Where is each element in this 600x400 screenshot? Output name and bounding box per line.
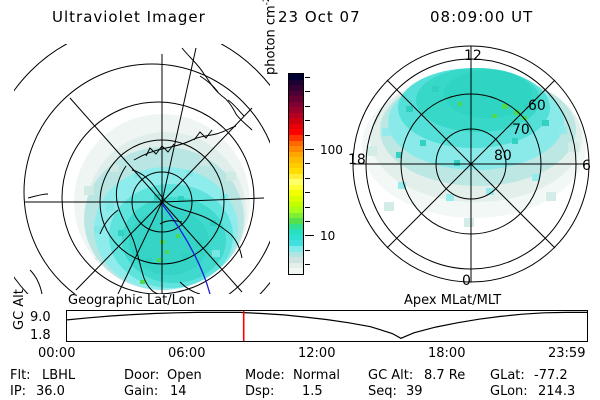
footer-door-value: Open: [167, 368, 202, 383]
observation-date: 23 Oct 07: [278, 8, 361, 26]
footer-gain-value: 14: [170, 384, 187, 399]
time-tick-0600: 06:00: [168, 346, 205, 361]
time-tick-0000: 00:00: [38, 346, 75, 361]
colorbar-label-text: photon cm: [263, 5, 278, 75]
footer-glat-value: -77.2: [534, 368, 568, 383]
colorbar: [288, 73, 304, 275]
colorbar-tick-label-10: 10: [320, 229, 335, 243]
footer-dsp-value: 1.5: [302, 384, 323, 399]
geographic-polar-panel: [14, 44, 270, 294]
mlt-label-12: 12: [464, 48, 482, 64]
time-tick-1200: 12:00: [298, 346, 335, 361]
aurora-oval-region: [362, 68, 586, 227]
footer-ip-value: 36.0: [36, 384, 65, 399]
footer-flt-value: LBHL: [42, 368, 75, 383]
colorbar-ticks: [305, 73, 317, 275]
mlat-label-60: 60: [528, 98, 546, 114]
footer-gain-key: Gain:: [124, 384, 158, 399]
alt-axis-label-top: GC Alt: [12, 289, 27, 330]
footer-gcalt-key: GC Alt:: [368, 368, 413, 383]
mlt-label-0: 0: [462, 273, 471, 289]
observation-time: 08:09:00 UT: [430, 8, 533, 26]
footer-dsp-key: Dsp:: [245, 384, 274, 399]
footer-door-key: Door:: [124, 368, 159, 383]
time-tick-1800: 18:00: [428, 346, 465, 361]
alt-ytick-18: 1.8: [30, 328, 51, 343]
footer-mode-key: Mode:: [245, 368, 285, 383]
footer-gcalt-value: 8.7 Re: [424, 368, 465, 383]
mlat-mlt-grid: [353, 46, 589, 282]
mlt-label-6: 6: [582, 158, 591, 174]
time-tick-2359: 23:59: [548, 346, 585, 361]
gc-altitude-trace: [66, 310, 588, 342]
footer-glon-key: GLon:: [490, 384, 528, 399]
apex-polar-panel: 12 0 6 60 70 80: [336, 42, 600, 294]
geographic-caption: Geographic Lat/Lon: [68, 293, 195, 308]
apex-caption: Apex MLat/MLT: [404, 293, 501, 308]
colorbar-label-exp1: -2: [262, 0, 272, 5]
instrument-title: Ultraviolet Imager: [52, 8, 206, 26]
gc-altitude-curve: [67, 311, 587, 341]
footer-flt-key: Flt:: [10, 368, 31, 383]
footer-ip-key: IP:: [10, 384, 26, 399]
mlat-label-70: 70: [512, 122, 530, 138]
footer-glon-value: 214.3: [538, 384, 575, 399]
uvi-summary-plot: Ultraviolet Imager 23 Oct 07 08:09:00 UT: [0, 0, 600, 400]
mlt-label-18: 18: [348, 152, 366, 168]
footer-mode-value: Normal: [293, 368, 340, 383]
footer-glat-key: GLat:: [490, 368, 525, 383]
footer-seq-value: 39: [406, 384, 423, 399]
colorbar-gradient: [289, 74, 303, 274]
alt-ytick-90: 9.0: [30, 310, 51, 325]
mlat-label-80: 80: [494, 148, 512, 164]
colorbar-axis-label: photon cm-2s-1: [262, 0, 278, 75]
footer-seq-key: Seq:: [368, 384, 397, 399]
